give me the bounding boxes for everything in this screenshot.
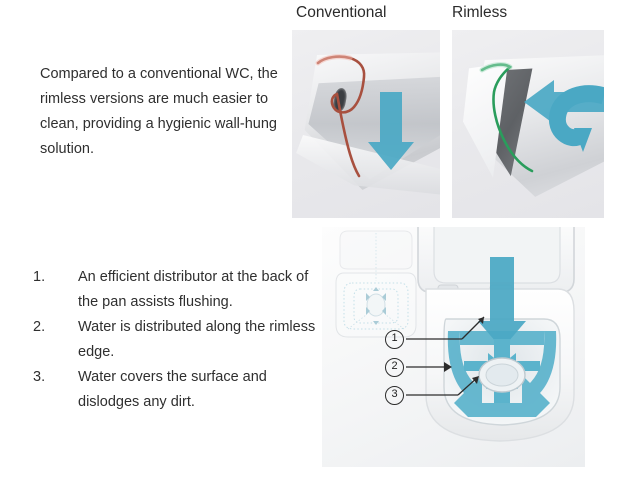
list-item-number: 1. [33, 265, 78, 290]
water-flow-arrow-loop-icon [452, 30, 604, 218]
conventional-label: Conventional [296, 4, 386, 22]
rimless-section-image [452, 30, 604, 218]
callout-markers: 1 2 3 [322, 227, 585, 467]
list-item-label: Water is distributed along the rimless e… [78, 315, 318, 365]
list-item-number: 2. [33, 315, 78, 340]
list-item: 3. Water covers the surface and dislodge… [33, 365, 318, 415]
list-item-label: An efficient distributor at the back of … [78, 265, 318, 315]
water-flow-arrow-down-icon [292, 30, 440, 218]
callout-marker-3[interactable]: 3 [385, 386, 404, 405]
callout-marker-2[interactable]: 2 [385, 358, 404, 377]
conventional-section-image [292, 30, 440, 218]
rimless-label: Rimless [452, 4, 507, 22]
diagram-canvas: Compared to a conventional WC, the rimle… [0, 0, 640, 480]
list-item-label: Water covers the surface and dislodges a… [78, 365, 318, 415]
pan-topview-image: 1 2 3 [322, 227, 585, 467]
list-item: 1. An efficient distributor at the back … [33, 265, 318, 315]
callout-marker-1[interactable]: 1 [385, 330, 404, 349]
list-item-number: 3. [33, 365, 78, 390]
intro-paragraph: Compared to a conventional WC, the rimle… [40, 62, 290, 162]
steps-list: 1. An efficient distributor at the back … [33, 265, 318, 415]
list-item: 2. Water is distributed along the rimles… [33, 315, 318, 365]
